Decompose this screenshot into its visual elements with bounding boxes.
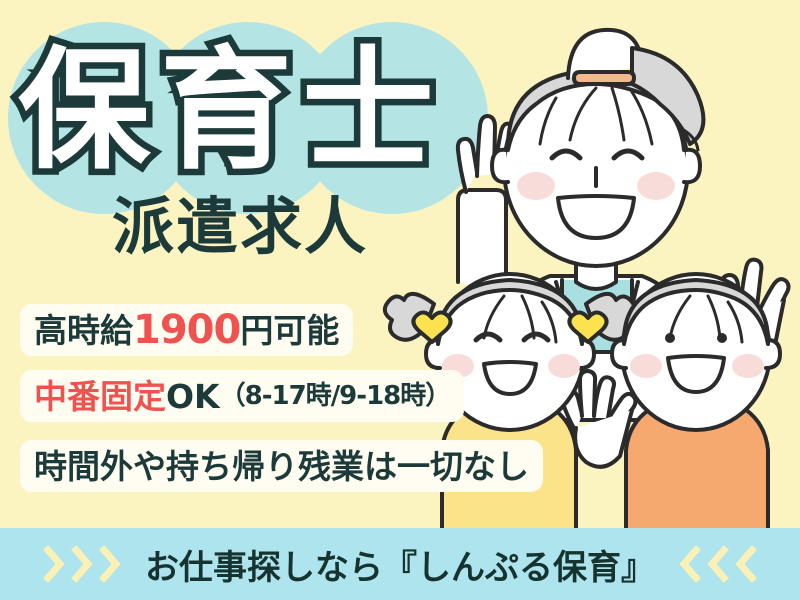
chevron-right-icon	[69, 544, 95, 584]
chevron-right-icon	[97, 544, 123, 584]
chevron-right-group-left	[41, 544, 123, 584]
chevron-right-icon	[41, 544, 67, 584]
headline-text: 保育士	[18, 45, 444, 177]
page-subtitle: 派遣求人	[112, 196, 368, 258]
feature-badge-shift: 中番固定 OK （8-17時/9-18時）	[20, 370, 464, 422]
chevron-left-icon	[677, 544, 703, 584]
bottom-cta-text: お仕事探しなら『しんぷる保育』	[145, 540, 655, 589]
badge-1-part-3: 円可能	[240, 314, 339, 347]
page-title: 保育士	[18, 28, 488, 193]
chevron-left-icon	[733, 544, 759, 584]
subheadline-text: 派遣求人	[112, 190, 368, 263]
chevron-left-group-right	[677, 544, 759, 584]
badge-1-part-1: 高時給	[34, 314, 133, 347]
feature-badge-no-overtime: 時間外や持ち帰り残業は一切なし	[20, 440, 543, 492]
badge-1-part-2: 1900	[133, 310, 240, 350]
bottom-cta-bar: お仕事探しなら『しんぷる保育』	[0, 528, 800, 600]
chevron-left-icon	[705, 544, 731, 584]
badge-2-part-3: （8-17時/9-18時）	[220, 383, 451, 409]
feature-badge-hourly-wage: 高時給 1900 円可能	[20, 304, 353, 356]
job-ad-banner: 保育士 派遣求人 高時給 1900 円可能 中番固定 OK （8-17時/9-1…	[0, 0, 800, 600]
badge-2-part-1: 中番固定	[34, 380, 166, 413]
badge-2-part-2: OK	[166, 380, 220, 413]
badge-3-part-1: 時間外や持ち帰り残業は一切なし	[34, 450, 529, 483]
